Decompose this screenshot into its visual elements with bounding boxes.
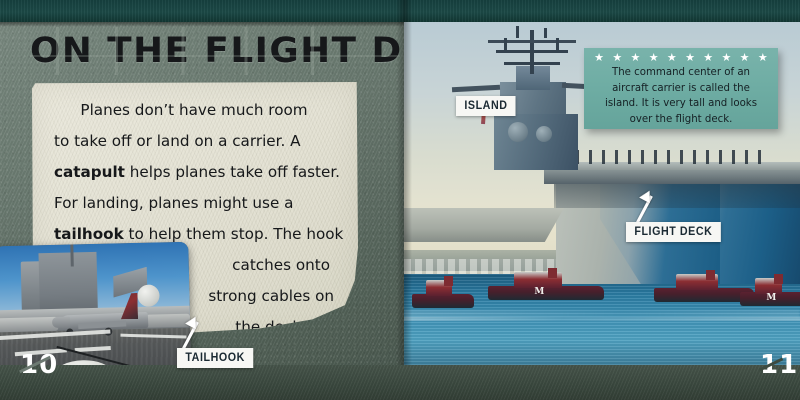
carrier-flight-deck-edge <box>544 168 800 184</box>
term-catapult: catapult <box>54 163 125 181</box>
carrier-antenna <box>556 38 559 52</box>
callout-star-row: ★ ★ ★ ★ ★ ★ ★ ★ ★ ★ <box>584 51 778 64</box>
body-line-3-rest: helps planes take off faster. <box>125 163 340 181</box>
star-icon: ★ <box>703 52 713 63</box>
book-spread: ON THE FLIGHT DECK Planes don’t have muc… <box>0 0 800 400</box>
carrier-radome-two <box>536 126 552 142</box>
page-number-right: 11 <box>760 352 798 378</box>
tugboat-marking: M <box>534 286 544 298</box>
page-title: ON THE FLIGHT DECK <box>30 27 407 75</box>
callout-line-4: over the flight deck. <box>591 112 771 128</box>
carrier-wake <box>404 310 800 318</box>
callout-line-3: island. It is very tall and looks <box>591 96 771 112</box>
carrier-mast-yardarm <box>488 40 576 43</box>
carrier-island-midsection <box>494 114 578 170</box>
jet-photo-parked-aircraft-right <box>146 314 190 328</box>
star-icon: ★ <box>685 52 695 63</box>
body-line-2: to take off or land on a carrier. A <box>52 126 336 157</box>
star-icon: ★ <box>594 52 604 63</box>
body-line-4: For landing, planes might use a <box>52 188 336 219</box>
jet-photo-parked-aircraft-left <box>0 317 58 332</box>
tugboat-stack <box>774 274 783 284</box>
carrier-mast-yardarm <box>504 62 560 65</box>
jet-photo-nose <box>52 317 70 328</box>
tugboat-hull <box>654 288 754 302</box>
term-tailhook: tailhook <box>54 225 124 243</box>
body-line-5-rest: to help them stop. The hook <box>124 225 344 243</box>
carrier-antenna <box>544 28 547 38</box>
tugboat-hull <box>412 294 474 308</box>
tugboat-stack <box>706 270 715 280</box>
tugboat-marking: M <box>766 292 776 304</box>
body-line-3: catapult helps planes take off faster. <box>52 157 336 188</box>
page-number-left-value: 10 <box>20 350 58 380</box>
callout-line-1: The command center of an <box>591 65 771 81</box>
tugboat-stack <box>548 268 557 278</box>
carrier-flight-deck-overhang <box>404 208 564 242</box>
star-icon: ★ <box>740 52 750 63</box>
body-line-1: Planes don’t have much room <box>52 95 336 126</box>
callout-box: ★ ★ ★ ★ ★ ★ ★ ★ ★ ★ The command center o… <box>584 48 778 129</box>
carrier-radome-one <box>508 122 528 142</box>
star-icon: ★ <box>631 52 641 63</box>
tugboat-stack <box>444 276 453 286</box>
carrier-deck-underside <box>554 184 800 208</box>
tugboat <box>412 280 474 310</box>
tugboat-hull <box>488 286 604 300</box>
callout-line-2: aircraft carrier is called the <box>591 81 771 97</box>
star-icon: ★ <box>649 52 659 63</box>
tugboat <box>654 274 754 306</box>
star-icon: ★ <box>667 52 677 63</box>
carrier-antenna <box>516 26 519 38</box>
carrier-antenna <box>504 38 507 52</box>
callout-text: The command center of an aircraft carrie… <box>584 65 778 127</box>
tugboat: M <box>488 272 604 306</box>
top-band <box>0 0 800 22</box>
star-icon: ★ <box>758 52 768 63</box>
tugboat: M <box>740 278 800 308</box>
jet-photo-mast <box>70 242 74 267</box>
star-icon: ★ <box>721 52 731 63</box>
bottom-strip <box>0 365 800 400</box>
label-tailhook: TAILHOOK <box>177 348 253 368</box>
label-flight-deck: FLIGHT DECK <box>626 222 721 242</box>
carrier-crew-silhouettes <box>572 150 768 164</box>
label-island: ISLAND <box>456 96 516 116</box>
star-icon: ★ <box>612 52 622 63</box>
page-number-left: 10 <box>20 352 58 378</box>
